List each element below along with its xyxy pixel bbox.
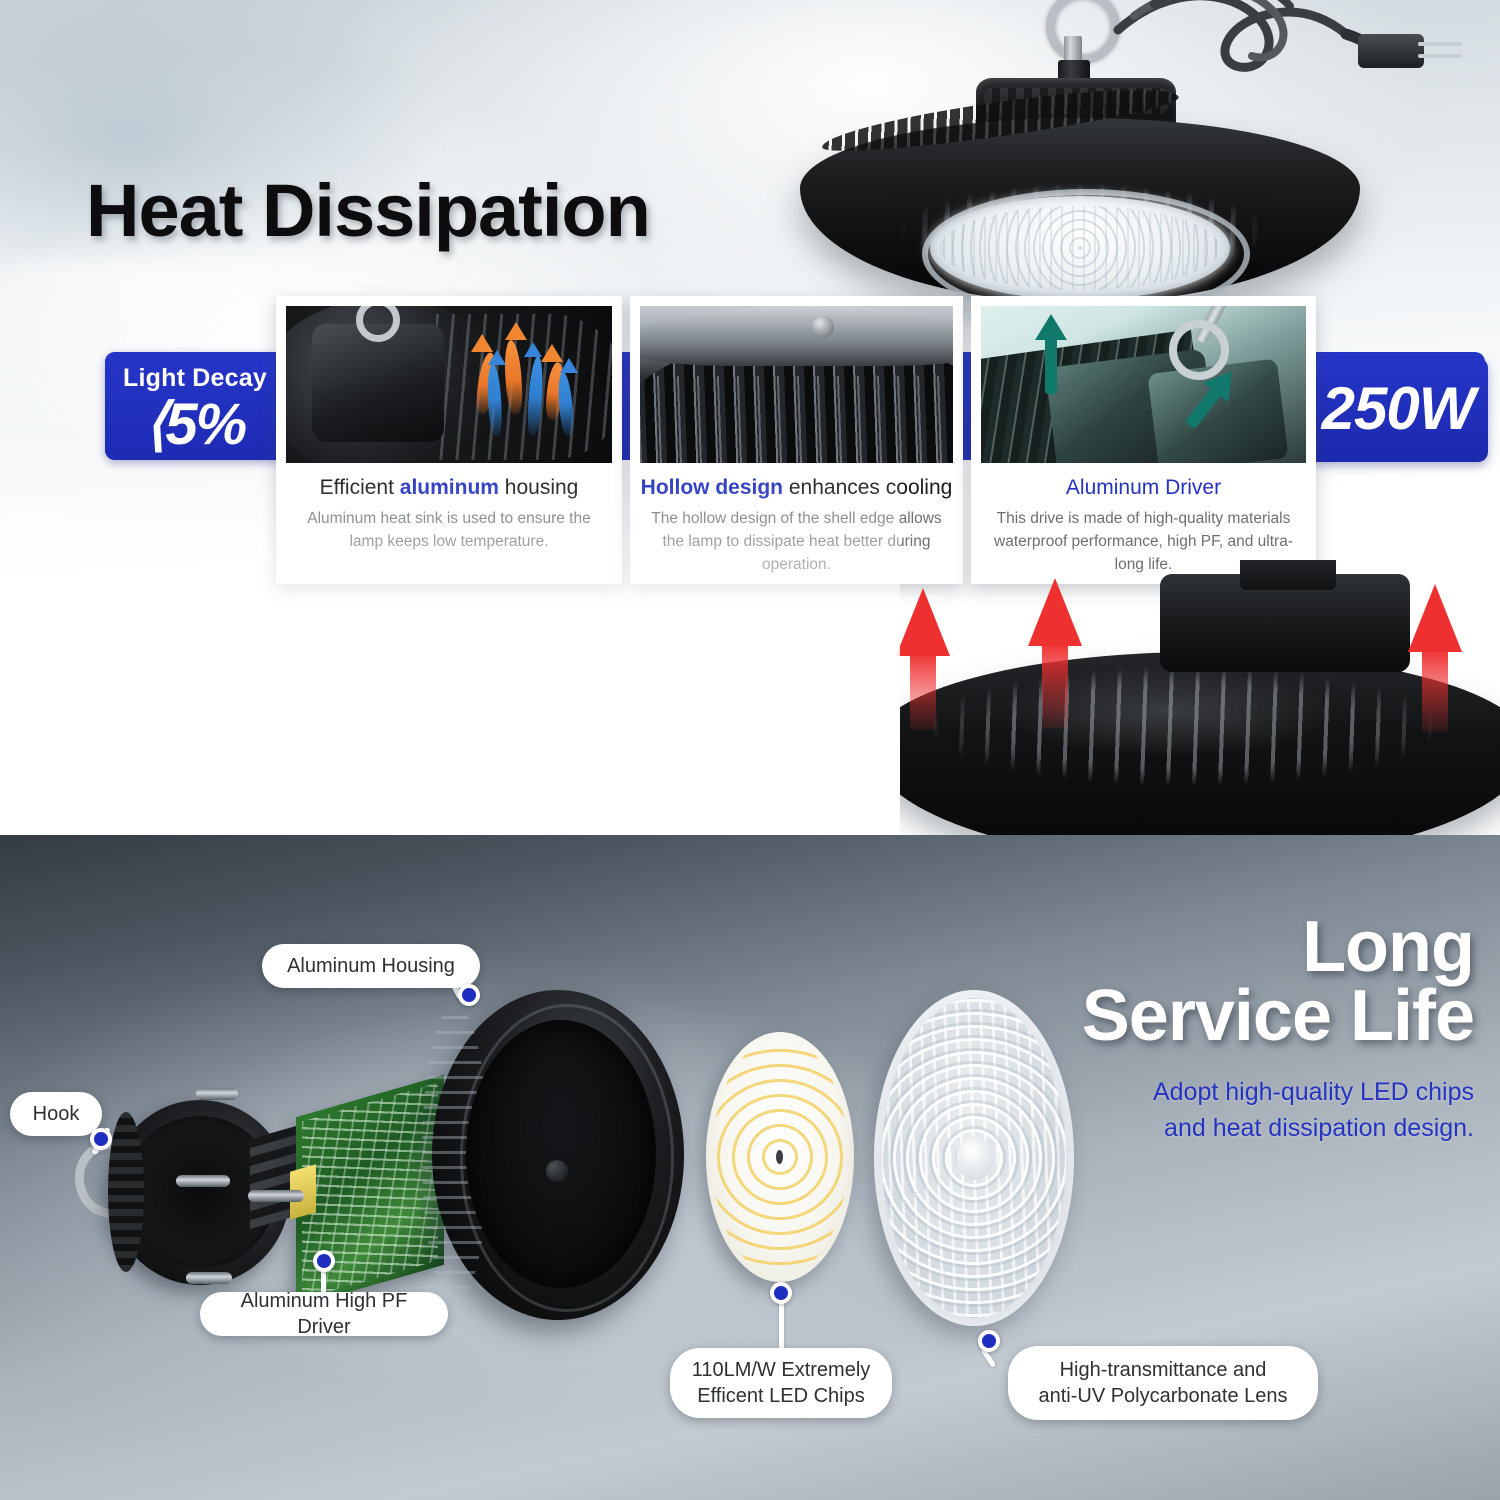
- cool-arrow-head-3: [560, 358, 578, 373]
- thumbnail-aluminum-driver: [981, 306, 1306, 463]
- heatsink-top-stem: [1240, 560, 1336, 590]
- background-glow: [120, 995, 1020, 1415]
- fin-highlight-overlay: [640, 376, 953, 463]
- heat-dissipation-section: Heat Dissipation Light Decay ⟨5% 250W: [0, 0, 1500, 835]
- card-title-highlight: Aluminum Driver: [1066, 476, 1221, 499]
- lamp-top-surface-shape: [640, 306, 953, 366]
- mounting-bolt-icon: [812, 316, 834, 338]
- feature-card-title: Aluminum Driver: [977, 476, 1310, 500]
- cool-arrow-head-2: [524, 342, 542, 357]
- heat-arrow-head-2: [505, 322, 527, 340]
- long-service-life-section: [0, 835, 1500, 1500]
- cool-arrow-head-1: [488, 350, 506, 365]
- thumbnail-hollow-design: [640, 306, 953, 463]
- thumbnail-aluminum-housing: [286, 306, 612, 463]
- product-infographic: Heat Dissipation Light Decay ⟨5% 250W: [0, 0, 1500, 1500]
- heatsink-detail-image: [860, 560, 1500, 835]
- feature-card-aluminum-driver: Aluminum Driver This drive is made of hi…: [971, 296, 1316, 584]
- background-fade-bottom: [0, 470, 900, 835]
